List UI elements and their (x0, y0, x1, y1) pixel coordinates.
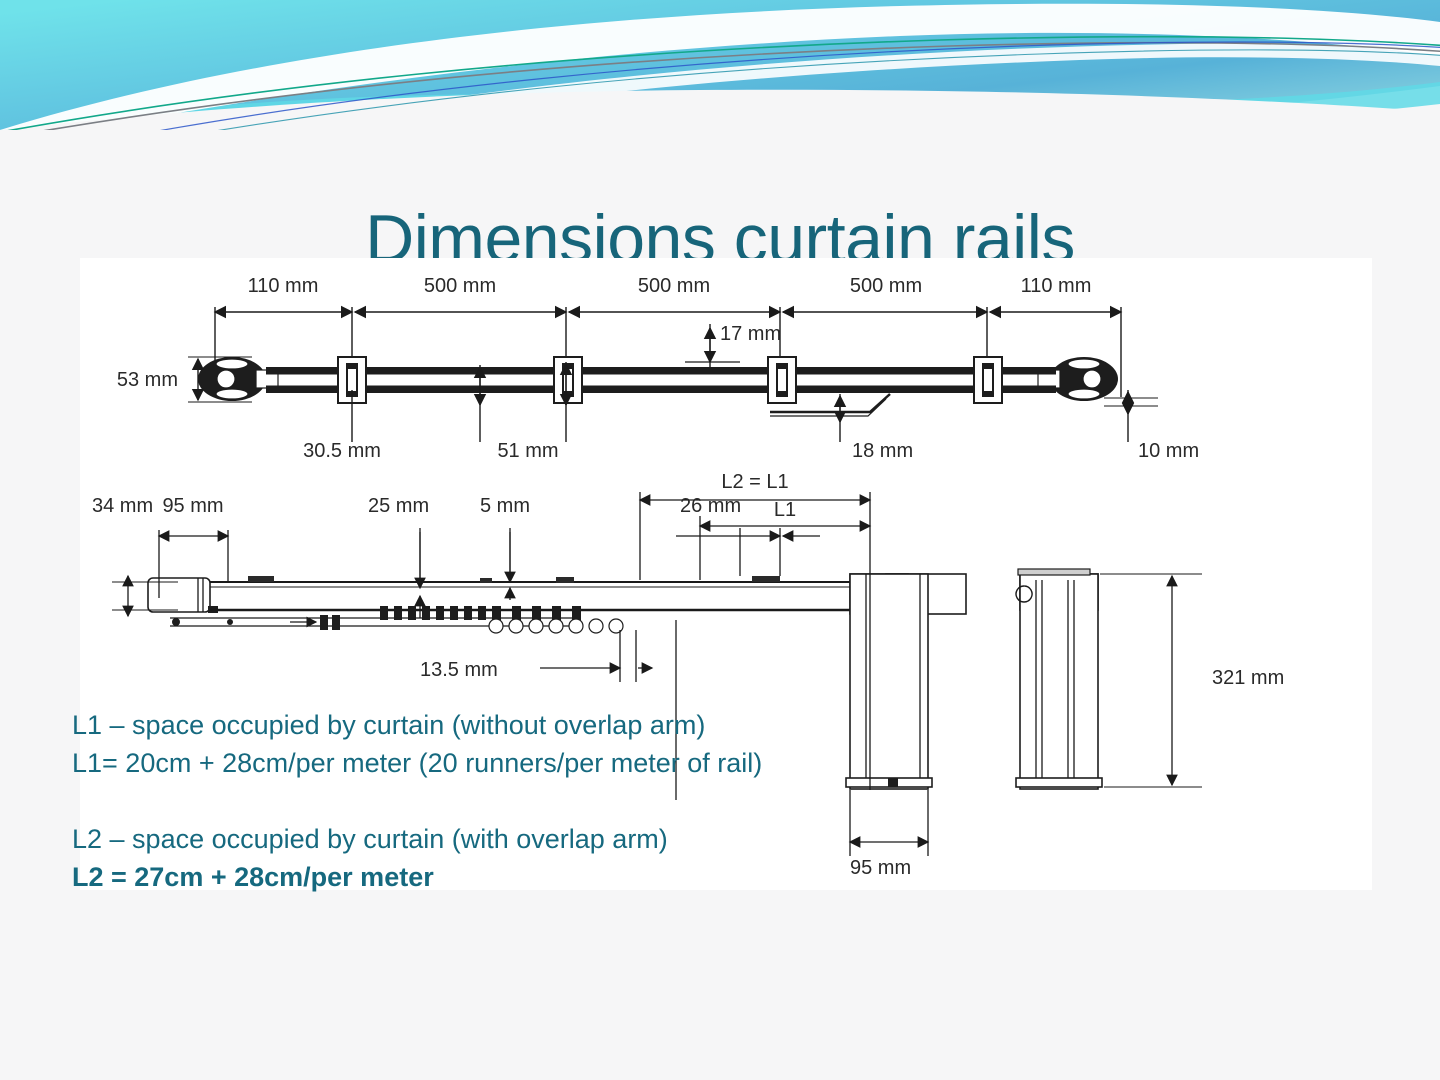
label-53mm: 53 mm (117, 369, 178, 391)
label-500mm-1: 500 mm (424, 275, 496, 297)
label-500mm-2: 500 mm (638, 275, 710, 297)
label-10mm: 10 mm (1138, 440, 1199, 462)
label-30-5mm: 30.5 mm (303, 440, 381, 462)
legend-spacer (72, 782, 1032, 820)
legend-line-l1-description: L1 – space occupied by curtain (without … (72, 706, 1032, 744)
label-18mm: 18 mm (852, 440, 913, 462)
legend-line-l2-description: L2 – space occupied by curtain (with ove… (72, 820, 1032, 858)
label-500mm-3: 500 mm (850, 275, 922, 297)
label-51mm: 51 mm (497, 440, 558, 462)
label-l2-equals-l1: L2 = L1 (721, 471, 788, 493)
legend-text-block: L1 – space occupied by curtain (without … (72, 706, 1032, 896)
label-l1: L1 (774, 499, 796, 521)
label-13-5mm: 13.5 mm (420, 659, 498, 681)
label-110mm-right: 110 mm (1021, 275, 1092, 297)
diagram-top-front-view: 110 mm 500 mm 500 mm 500 mm 110 mm 17 mm… (80, 262, 1372, 472)
label-34mm: 34 mm (92, 495, 153, 517)
label-5mm: 5 mm (480, 495, 530, 517)
label-25mm: 25 mm (368, 495, 429, 517)
legend-line-l2-formula: L2 = 27cm + 28cm/per meter (72, 858, 1032, 896)
label-321mm: 321 mm (1212, 667, 1284, 689)
label-17mm: 17 mm (720, 323, 781, 345)
legend-line-l1-formula: L1= 20cm + 28cm/per meter (20 runners/pe… (72, 744, 1032, 782)
label-26mm: 26 mm (680, 495, 741, 517)
label-110mm-left: 110 mm (248, 275, 319, 297)
label-95mm-endcap: 95 mm (162, 495, 223, 517)
